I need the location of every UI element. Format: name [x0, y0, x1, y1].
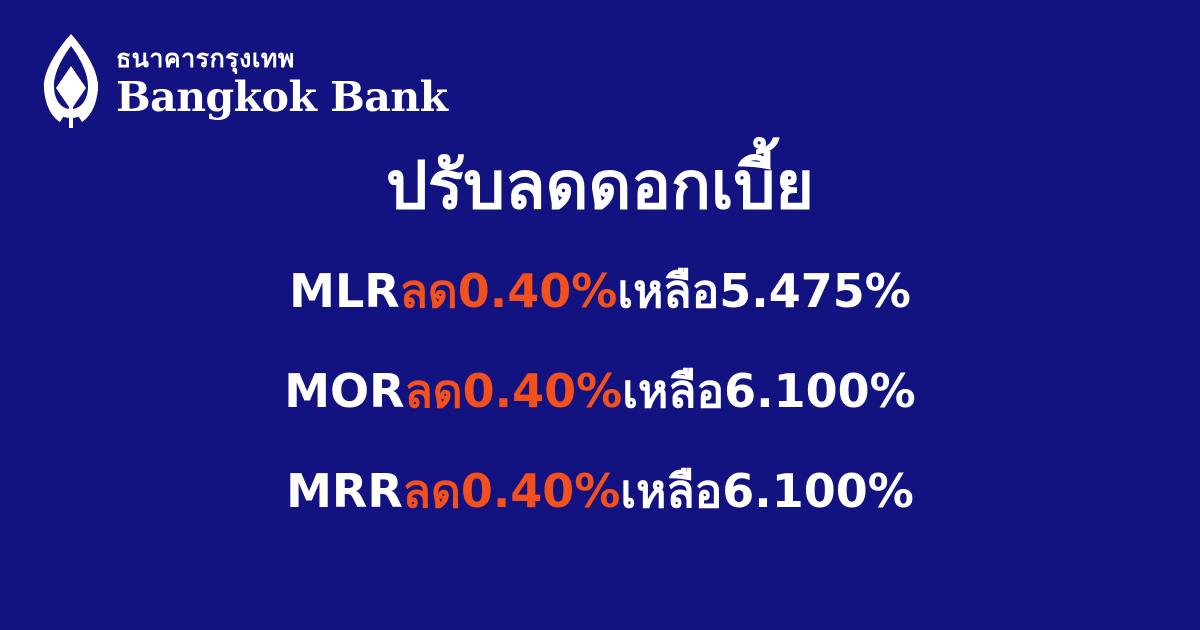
bangkok-bank-lotus-icon: [40, 32, 102, 128]
rate-code: MLR: [289, 264, 400, 318]
rate-new-value: 5.475%: [719, 264, 911, 318]
rate-code: MOR: [284, 364, 404, 418]
rate-code: MRR: [286, 464, 403, 518]
rate-cut-label: ลด: [403, 464, 461, 518]
rate-cut-amount: 0.40%: [463, 364, 623, 418]
rate-remain-label: เหลือ: [622, 364, 724, 418]
rate-row-mor: MORลด0.40%เหลือ6.100%: [0, 368, 1200, 468]
rate-list: MLRลด0.40%เหลือ5.475% MORลด0.40%เหลือ6.1…: [0, 268, 1200, 568]
rate-cut-amount: 0.40%: [458, 264, 618, 318]
rate-new-value: 6.100%: [722, 464, 914, 518]
brand-lockup: ธนาคารกรุงเทพ Bangkok Bank: [40, 32, 448, 128]
rate-cut-label: ลด: [405, 364, 463, 418]
brand-name-thai: ธนาคารกรุงเทพ: [116, 45, 448, 74]
brand-wordmark: ธนาคารกรุงเทพ Bangkok Bank: [116, 41, 448, 119]
rate-row-mlr: MLRลด0.40%เหลือ5.475%: [0, 268, 1200, 368]
rate-cut-label: ลด: [400, 264, 458, 318]
rate-new-value: 6.100%: [724, 364, 916, 418]
rate-cut-amount: 0.40%: [461, 464, 621, 518]
page-title: ปรับลดดอกเบี้ย: [0, 150, 1200, 223]
rate-remain-label: เหลือ: [620, 464, 722, 518]
brand-name-english: Bangkok Bank: [116, 76, 448, 119]
announcement-poster: ธนาคารกรุงเทพ Bangkok Bank ปรับลดดอกเบี้…: [0, 0, 1200, 630]
rate-row-mrr: MRRลด0.40%เหลือ6.100%: [0, 468, 1200, 568]
rate-remain-label: เหลือ: [617, 264, 719, 318]
